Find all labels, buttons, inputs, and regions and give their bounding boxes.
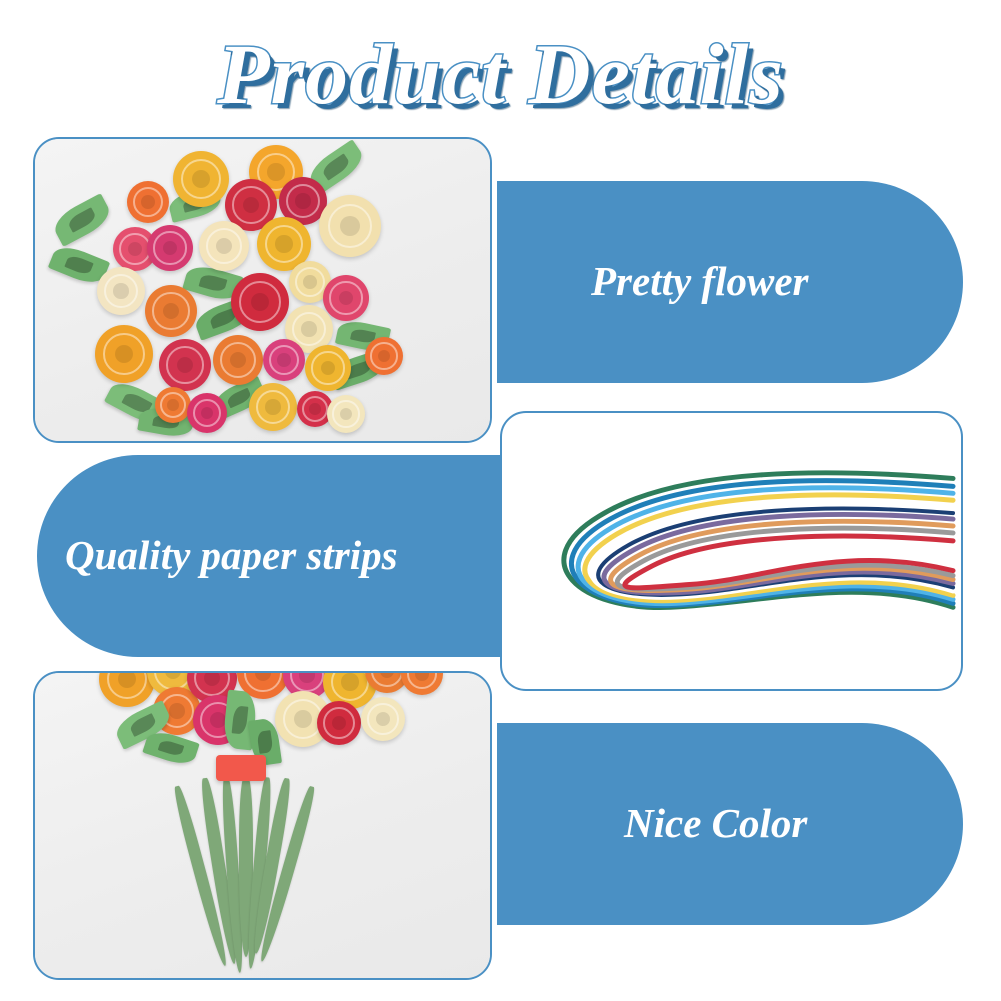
feature-banner-nice-color: Nice Color — [497, 723, 963, 925]
feature-label-nice-color: Nice Color — [624, 801, 807, 846]
feature-banner-pretty-flower: Pretty flower — [497, 181, 963, 383]
photo-card-quilled-bouquet — [33, 671, 492, 980]
photo-card-paper-strips — [500, 411, 963, 691]
product-details-infographic: Product Details Pretty flower Quality pa… — [0, 0, 1001, 1001]
bouquet-icon — [35, 673, 490, 978]
page-title: Product Details — [217, 26, 784, 122]
feature-label-pretty-flower: Pretty flower — [591, 259, 808, 304]
feature-label-quality-paper-strips: Quality paper strips — [65, 533, 398, 578]
page-title-container: Product Details — [0, 26, 1001, 122]
paper-strip-icon — [502, 413, 961, 691]
flower-icon — [35, 139, 490, 441]
bouquet-band — [216, 755, 266, 781]
photo-card-quilled-flowers — [33, 137, 492, 443]
